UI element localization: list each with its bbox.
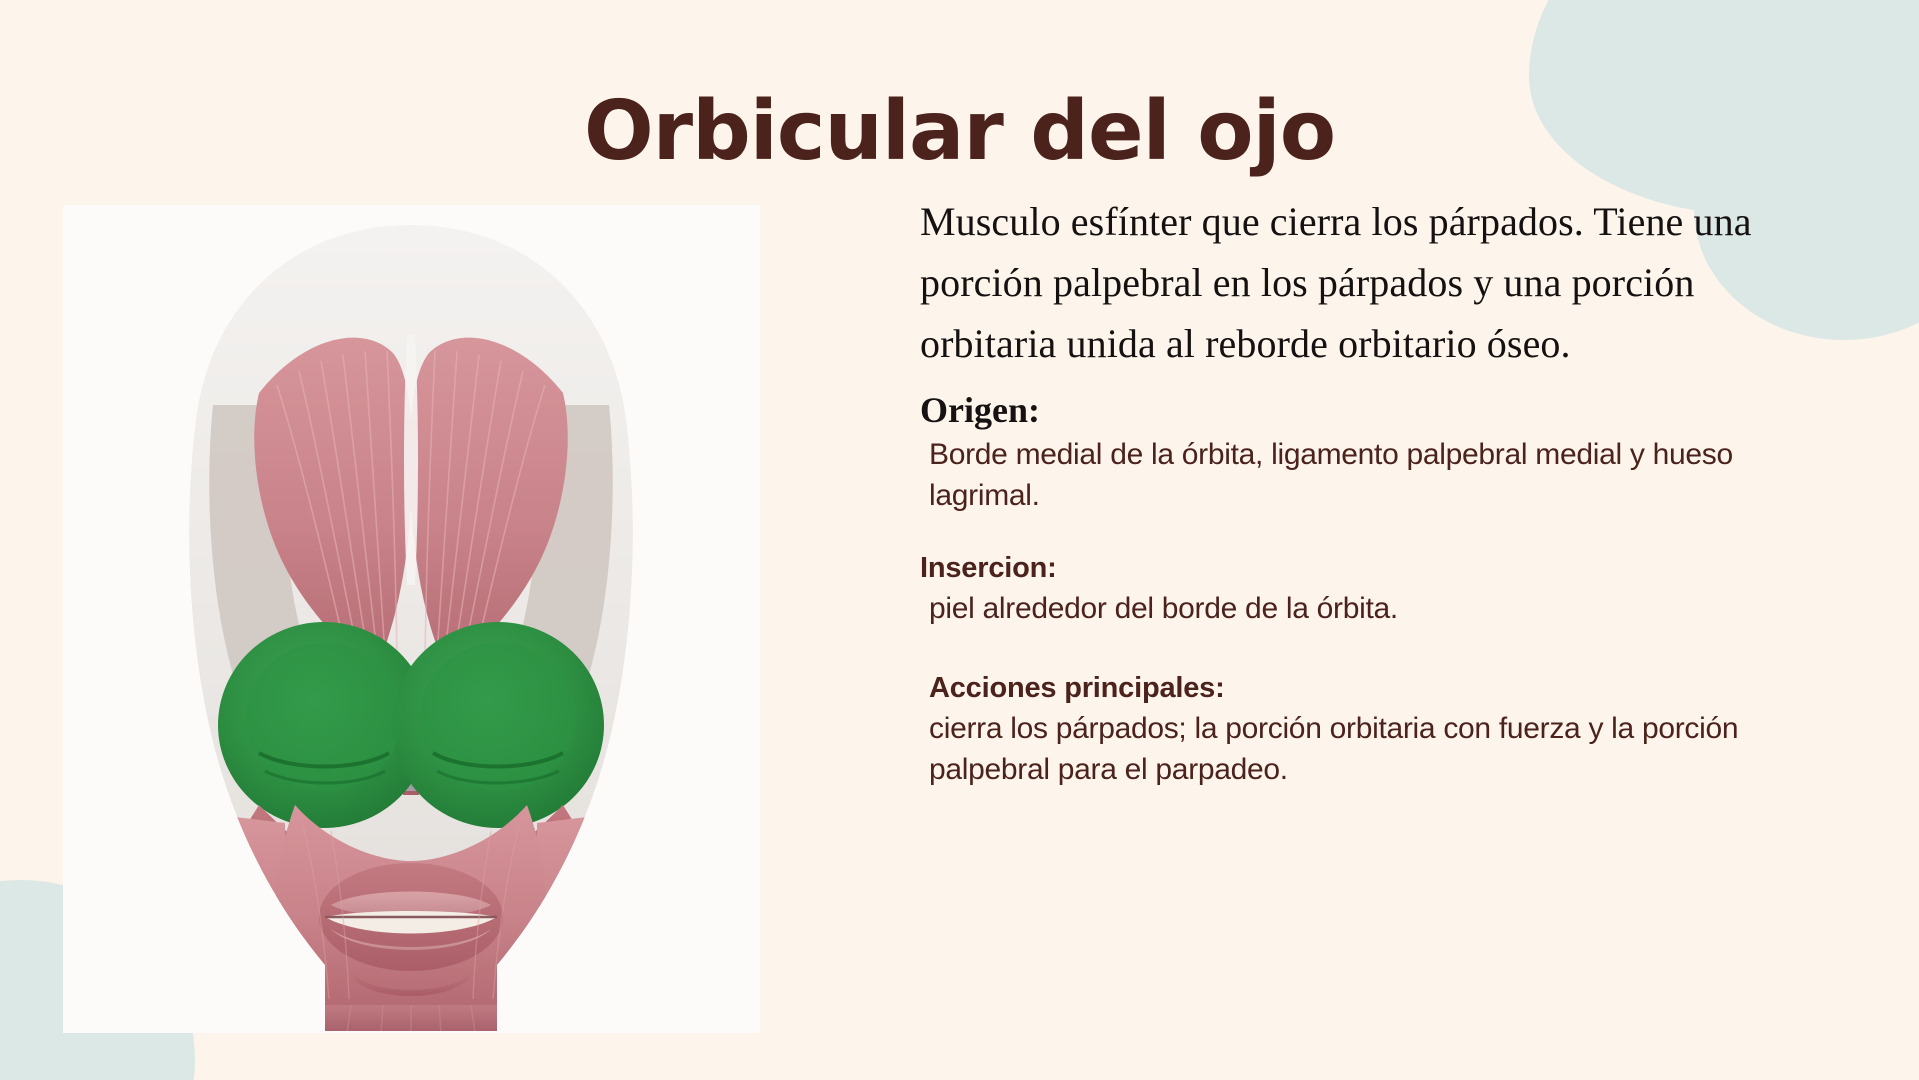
section-acciones-heading: Acciones principales: [920,670,1758,708]
anterior-facial-muscles-diagram [63,205,760,1033]
figure-panel: Vista anterior de la cabeza con los músc… [63,205,760,1033]
section-origen-body: Borde medial de la órbita, ligamento pal… [920,435,1758,515]
section-acciones-body: cierra los párpados; la porción orbitari… [920,709,1758,789]
section-insercion-heading: Insercion: [920,550,1758,588]
section-origen: Origen: Borde medial de la órbita, ligam… [920,388,1758,515]
section-insercion-body: piel alrededor del borde de la órbita. [920,589,1758,629]
text-column: Musculo esfínter que cierra los párpados… [920,192,1758,796]
page-title: Orbicular del ojo [0,89,1919,175]
slide-canvas: Orbicular del ojo [0,0,1919,1080]
section-origen-heading: Origen: [920,388,1758,433]
section-insercion: Insercion: piel alrededor del borde de l… [920,550,1758,630]
section-acciones: Acciones principales: cierra los párpado… [920,670,1758,790]
intro-paragraph: Musculo esfínter que cierra los párpados… [920,192,1758,374]
